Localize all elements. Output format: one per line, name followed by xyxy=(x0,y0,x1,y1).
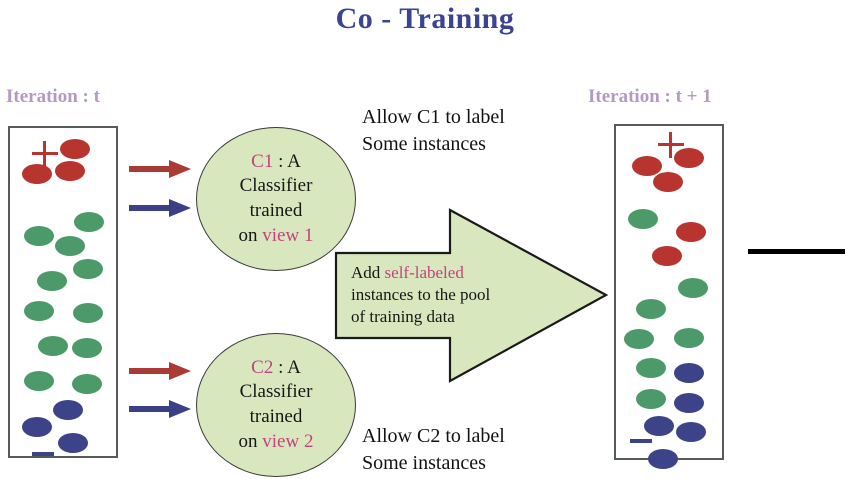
instance-dot-green xyxy=(628,209,658,229)
feed-arrow-positive-c1 xyxy=(129,160,191,178)
classifier-c2-line1: C2 : A xyxy=(251,356,301,381)
classifier-c2-line4-prefix: on xyxy=(239,431,263,452)
feed-arrow-negative-c1 xyxy=(129,199,191,217)
classifier-c1-line3: trained xyxy=(250,199,303,224)
instance-dot-red xyxy=(22,164,52,184)
iteration-label-right: Iteration : t + 1 xyxy=(588,86,712,108)
data-pool-left xyxy=(8,126,118,458)
arrow-head xyxy=(169,199,191,217)
arrow-head xyxy=(169,160,191,178)
horizontal-rule-icon xyxy=(748,249,845,254)
arrow-shaft xyxy=(129,205,173,211)
instance-dot-blue xyxy=(22,417,52,437)
instance-dot-green xyxy=(24,371,54,391)
classifier-c1-line4: on view 1 xyxy=(239,224,314,249)
transfer-caption-prefix: Add xyxy=(351,263,385,282)
arrow-shaft xyxy=(129,406,173,412)
caption-allow-c1-line1: Allow C1 to label xyxy=(362,106,505,128)
classifier-c2-line1-rest: : A xyxy=(273,357,300,378)
instance-dot-blue xyxy=(674,393,704,413)
caption-allow-c1: Allow C1 to label Some instances xyxy=(362,104,505,158)
caption-allow-c1-line2: Some instances xyxy=(362,133,486,155)
instance-dot-blue xyxy=(58,433,88,453)
caption-allow-c2: Allow C2 to label Some instances xyxy=(362,423,505,477)
classifier-c2-name: C2 xyxy=(251,357,273,378)
arrow-shaft xyxy=(129,166,173,172)
instance-dot-green xyxy=(72,338,102,358)
instance-dot-red xyxy=(676,222,706,242)
instance-dot-green xyxy=(24,301,54,321)
caption-allow-c2-line2: Some instances xyxy=(362,452,486,474)
feed-arrow-negative-c2 xyxy=(129,400,191,418)
instance-dot-red xyxy=(632,156,662,176)
caption-allow-c2-line1: Allow C2 to label xyxy=(362,425,505,447)
instance-dot-red xyxy=(55,161,85,181)
minus-sign-right xyxy=(630,439,652,443)
classifier-c2-line2: Classifier xyxy=(240,380,313,405)
cotraining-diagram: Co - Training Iteration : t Iteration : … xyxy=(0,0,850,479)
instance-dot-green xyxy=(24,226,54,246)
transfer-caption-highlight: self-labeled xyxy=(385,263,464,282)
instance-dot-green xyxy=(636,389,666,409)
classifier-c1-name: C1 xyxy=(251,151,273,172)
minus-sign-left xyxy=(32,452,54,456)
instance-dot-green xyxy=(73,259,103,279)
instance-dot-green xyxy=(624,329,654,349)
instance-dot-blue xyxy=(648,449,678,469)
instance-dot-green xyxy=(636,299,666,319)
instance-dot-red xyxy=(674,148,704,168)
instance-dot-blue xyxy=(676,422,706,442)
instance-dot-red xyxy=(60,139,90,159)
classifier-c1-view: view 1 xyxy=(262,225,313,246)
transfer-caption-line3: of training data xyxy=(351,307,455,326)
instance-dot-blue xyxy=(644,416,674,436)
classifier-c1-line4-prefix: on xyxy=(239,225,263,246)
instance-dot-red xyxy=(652,246,682,266)
instance-dot-green xyxy=(38,336,68,356)
classifier-c1-line1-rest: : A xyxy=(273,151,300,172)
instance-dot-green xyxy=(73,303,103,323)
classifier-c2-line3: trained xyxy=(250,405,303,430)
instance-dot-green xyxy=(72,374,102,394)
instance-dot-green xyxy=(55,236,85,256)
arrow-shaft xyxy=(129,368,173,374)
instance-dot-green xyxy=(636,358,666,378)
classifier-c1-line2: Classifier xyxy=(240,174,313,199)
iteration-label-left: Iteration : t xyxy=(6,86,100,108)
page-title: Co - Training xyxy=(0,2,850,36)
transfer-caption-line2: instances to the pool xyxy=(351,285,490,304)
arrow-head xyxy=(169,362,191,380)
instance-dot-red xyxy=(653,172,683,192)
transfer-caption: Add self-labeled instances to the pool o… xyxy=(351,262,526,328)
instance-dot-green xyxy=(674,328,704,348)
instance-dot-green xyxy=(74,212,104,232)
instance-dot-green xyxy=(678,278,708,298)
instance-dot-blue xyxy=(53,400,83,420)
data-pool-right xyxy=(614,124,724,460)
instance-dot-green xyxy=(37,271,67,291)
classifier-c1-line1: C1 : A xyxy=(251,150,301,175)
classifier-c2-line4: on view 2 xyxy=(239,430,314,455)
instance-dot-blue xyxy=(674,363,704,383)
arrow-head xyxy=(169,400,191,418)
classifier-c2-view: view 2 xyxy=(262,431,313,452)
feed-arrow-positive-c2 xyxy=(129,362,191,380)
